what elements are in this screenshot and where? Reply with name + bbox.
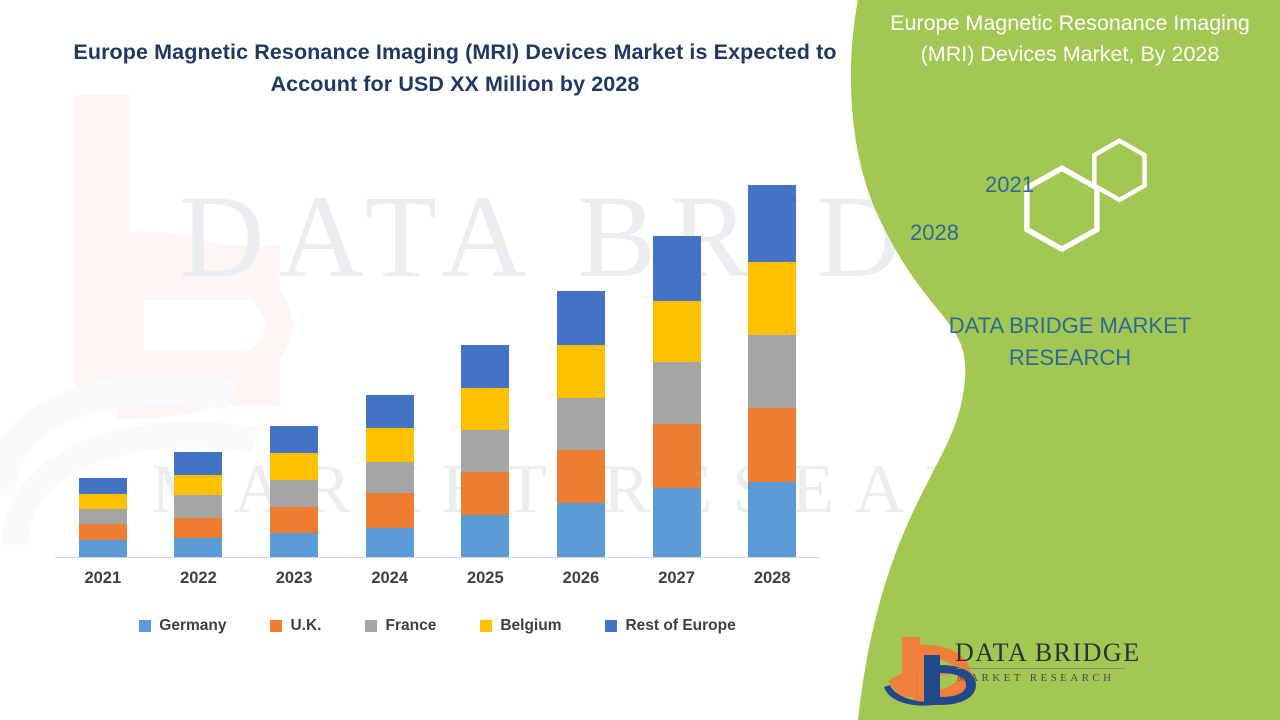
bar-segment-u-k-	[461, 472, 509, 515]
bar-segment-france	[748, 335, 796, 408]
bar-segment-germany	[366, 528, 414, 557]
stacked-bar	[270, 426, 318, 557]
bar-segment-belgium	[461, 388, 509, 430]
bar-segment-rest-of-europe	[79, 478, 127, 494]
hexagon-2021-label: 2021	[985, 172, 1034, 198]
bar-segment-belgium	[366, 428, 414, 462]
bar-segment-rest-of-europe	[461, 345, 509, 388]
legend-label: Belgium	[500, 617, 561, 635]
brand-name: DATA BRIDGE MARKET RESEARCH	[860, 310, 1280, 374]
bar-segment-u-k-	[270, 507, 318, 533]
legend-item-rest-of-europe[interactable]: Rest of Europe	[605, 617, 735, 635]
bar-segment-rest-of-europe	[174, 452, 222, 475]
legend-swatch-icon	[480, 620, 492, 632]
stacked-bar	[748, 185, 796, 557]
bar-segment-rest-of-europe	[557, 291, 605, 345]
chart-title: Europe Magnetic Resonance Imaging (MRI) …	[60, 36, 850, 100]
bar-segment-rest-of-europe	[653, 236, 701, 301]
bar-segment-germany	[79, 540, 127, 557]
legend-label: France	[385, 617, 436, 635]
stacked-bar	[366, 395, 414, 557]
bar-segment-belgium	[748, 262, 796, 335]
chart-legend: GermanyU.K.FranceBelgiumRest of Europe	[55, 612, 820, 640]
legend-item-belgium[interactable]: Belgium	[480, 617, 561, 635]
bar-column-2028	[724, 160, 820, 557]
x-axis-label-2023: 2023	[246, 566, 342, 594]
stacked-bar	[557, 291, 605, 557]
legend-item-france[interactable]: France	[365, 617, 436, 635]
bar-segment-u-k-	[748, 408, 796, 482]
bar-column-2025	[438, 160, 534, 557]
legend-item-u-k-[interactable]: U.K.	[270, 617, 321, 635]
legend-swatch-icon	[605, 620, 617, 632]
panel-title: Europe Magnetic Resonance Imaging (MRI) …	[860, 8, 1280, 70]
bar-column-2023	[246, 160, 342, 557]
legend-label: Rest of Europe	[625, 617, 735, 635]
legend-swatch-icon	[365, 620, 377, 632]
bar-segment-u-k-	[557, 450, 605, 503]
hexagon-2021	[1094, 141, 1144, 200]
bar-segment-belgium	[174, 475, 222, 495]
stacked-bar	[653, 236, 701, 557]
bar-column-2021	[55, 160, 151, 557]
bar-segment-rest-of-europe	[270, 426, 318, 453]
bar-segment-france	[174, 495, 222, 518]
panel-content: Europe Magnetic Resonance Imaging (MRI) …	[860, 0, 1280, 720]
hexagon-2028-label: 2028	[910, 220, 959, 246]
stacked-bar	[174, 452, 222, 557]
bar-segment-france	[557, 398, 605, 450]
x-axis-line	[55, 557, 820, 558]
bar-segment-germany	[557, 503, 605, 557]
bar-segment-belgium	[270, 453, 318, 480]
legend-swatch-icon	[139, 620, 151, 632]
bar-segment-u-k-	[79, 524, 127, 540]
stacked-bar	[461, 345, 509, 557]
x-axis-label-2022: 2022	[151, 566, 247, 594]
x-axis-label-2028: 2028	[724, 566, 820, 594]
bar-segment-france	[79, 509, 127, 524]
x-axis-label-2024: 2024	[342, 566, 438, 594]
x-axis-labels: 20212022202320242025202620272028	[55, 566, 820, 594]
logo-divider	[957, 668, 1125, 669]
logo-wordmark: DATA BRIDGE	[955, 638, 1141, 668]
stacked-bar	[79, 478, 127, 557]
bar-segment-belgium	[653, 301, 701, 362]
legend-item-germany[interactable]: Germany	[139, 617, 226, 635]
bar-segment-germany	[748, 482, 796, 557]
bar-column-2026	[533, 160, 629, 557]
legend-swatch-icon	[270, 620, 282, 632]
bar-column-2022	[151, 160, 247, 557]
bar-segment-u-k-	[174, 518, 222, 538]
x-axis-label-2021: 2021	[55, 566, 151, 594]
bar-segment-u-k-	[366, 493, 414, 528]
bar-segment-belgium	[79, 494, 127, 509]
bar-segment-france	[653, 362, 701, 424]
bar-segment-u-k-	[653, 424, 701, 488]
x-axis-label-2025: 2025	[438, 566, 534, 594]
hexagon-2028	[1027, 168, 1097, 249]
bar-segment-germany	[461, 515, 509, 557]
bar-segment-rest-of-europe	[748, 185, 796, 262]
brand-line-1: DATA BRIDGE MARKET	[860, 310, 1280, 342]
infographic-canvas: DATA BRIDGE MARKET RESEARCH Europe Magne…	[0, 0, 1280, 720]
bar-segment-germany	[270, 533, 318, 557]
bar-column-2027	[629, 160, 725, 557]
brand-line-2: RESEARCH	[860, 342, 1280, 374]
logo-tagline: MARKET RESEARCH	[957, 672, 1114, 684]
bar-segment-france	[461, 430, 509, 472]
bar-segment-germany	[174, 538, 222, 557]
bar-segment-france	[366, 462, 414, 493]
x-axis-label-2026: 2026	[533, 566, 629, 594]
bar-column-2024	[342, 160, 438, 557]
bar-segment-germany	[653, 488, 701, 557]
bar-segment-france	[270, 480, 318, 507]
legend-label: Germany	[159, 617, 226, 635]
stacked-bar-chart	[55, 160, 820, 557]
bar-segment-rest-of-europe	[366, 395, 414, 428]
legend-label: U.K.	[290, 617, 321, 635]
bar-segment-belgium	[557, 345, 605, 398]
x-axis-label-2027: 2027	[629, 566, 725, 594]
